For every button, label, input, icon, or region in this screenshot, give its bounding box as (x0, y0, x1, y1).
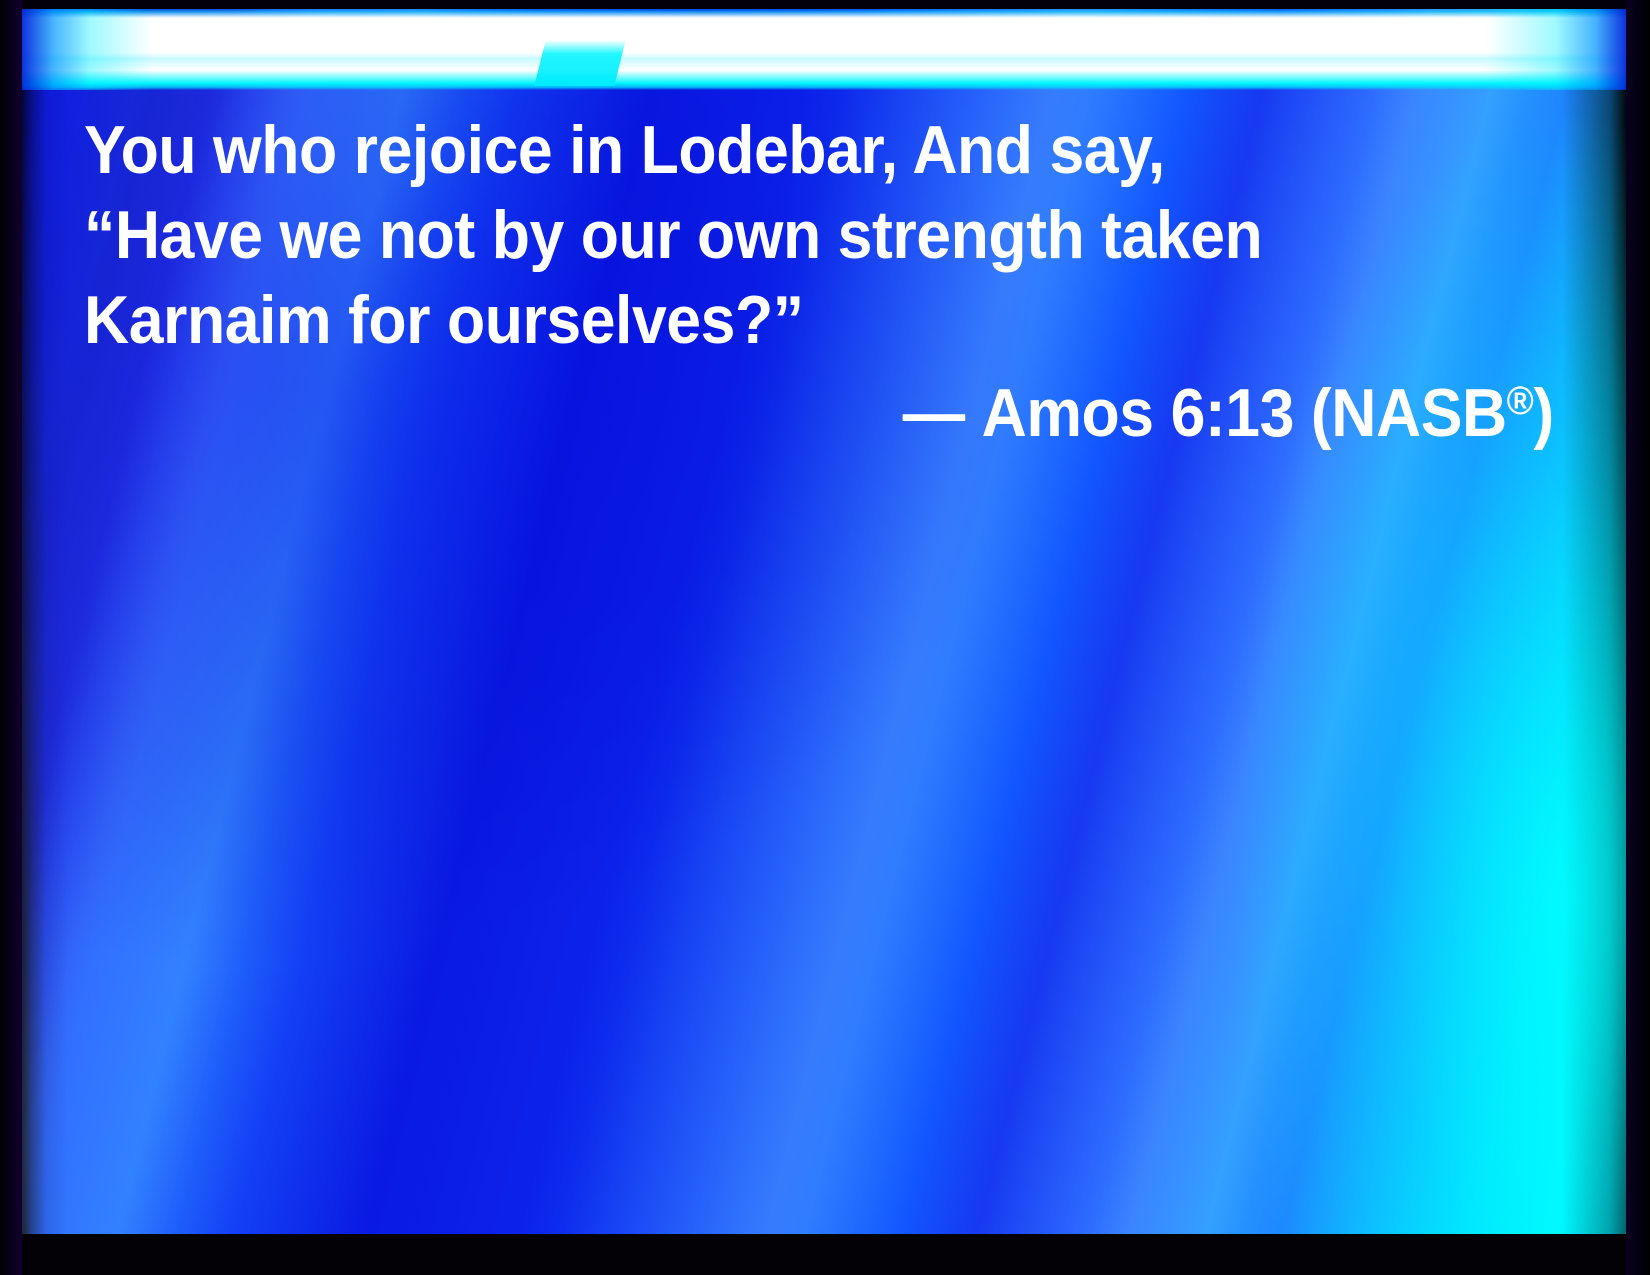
attribution-space-3 (1294, 375, 1311, 451)
verse-line-3: Karnaim for ourselves?” (84, 278, 1436, 363)
attribution-translation-close: ) (1534, 375, 1554, 451)
verse-line-2: “Have we not by our own strength taken (84, 193, 1436, 278)
top-glow-band-left-fade (22, 8, 152, 90)
attribution-dash: — (903, 375, 965, 451)
top-glow-band-right-fade (1486, 8, 1626, 90)
registered-trademark-icon: ® (1507, 379, 1534, 423)
attribution-translation-open: (NASB (1311, 375, 1507, 451)
attribution-space-1 (965, 375, 982, 451)
verse-attribution: — Amos 6:13 (NASB®) (84, 370, 1554, 456)
top-glow-band (22, 8, 1626, 90)
attribution-book: Amos (982, 375, 1154, 451)
verse-attribution-inner: — Amos 6:13 (NASB®) (903, 370, 1554, 456)
right-border (1626, 0, 1650, 1275)
attribution-space-2 (1154, 375, 1171, 451)
verse-slide: You who rejoice in Lodebar, And say, “Ha… (0, 0, 1650, 1275)
top-border (0, 0, 1650, 9)
left-border (0, 0, 22, 1275)
verse-text-block: You who rejoice in Lodebar, And say, “Ha… (84, 108, 1554, 363)
verse-line-1: You who rejoice in Lodebar, And say, (84, 108, 1436, 193)
attribution-reference: 6:13 (1171, 375, 1294, 451)
top-glow-band-notch (534, 40, 625, 86)
bottom-border (0, 1234, 1650, 1275)
